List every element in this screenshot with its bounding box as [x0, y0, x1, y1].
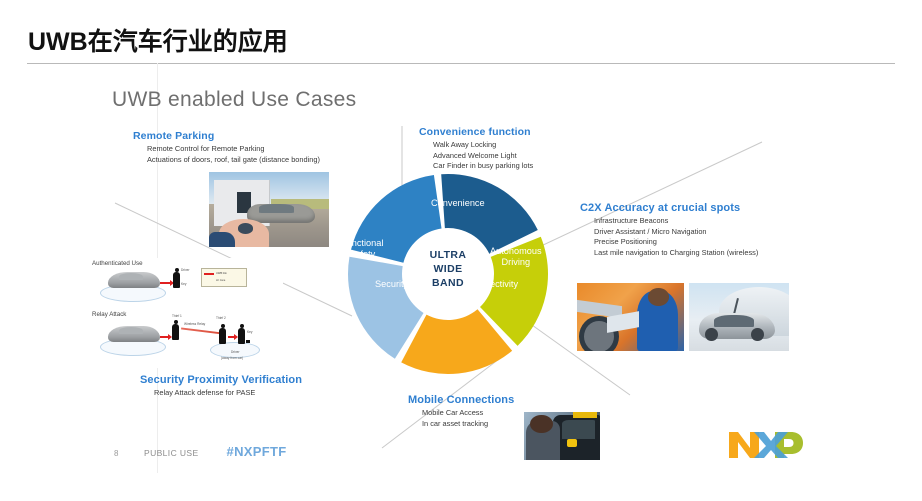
event-hashtag: #NXPFTF: [227, 444, 287, 459]
diagram-car: [108, 326, 160, 342]
callout-title: Convenience function: [419, 126, 533, 138]
classification-label: PUBLIC USE: [144, 448, 199, 458]
photo-car-interior: [577, 283, 684, 351]
callout-title: Remote Parking: [133, 130, 320, 142]
callout-security-proximity: Security Proximity Verification Relay At…: [140, 374, 302, 399]
photo-handheld-device: [567, 439, 578, 447]
diagram-label-key: Key: [181, 282, 187, 286]
diagram-relay-attack: Authenticated Use Driver Key UWB link LF…: [88, 258, 283, 368]
diagram-briefcase: [246, 340, 250, 343]
diagram-label-thief1: Thief 1: [172, 314, 182, 318]
person-body: [173, 272, 180, 288]
logo-letter-n: [729, 432, 759, 458]
person-body: [172, 324, 179, 340]
callout-line: Advanced Welcome Light: [433, 151, 533, 162]
person-body: [238, 328, 245, 344]
callout-lines: Infrastructure Beacons Driver Assistant …: [580, 216, 758, 258]
callout-lines: Relay Attack defense for PASE: [140, 388, 302, 399]
person-body: [219, 328, 226, 344]
photo-person-head: [530, 415, 553, 433]
legend-swatch-uwb: [204, 273, 214, 275]
photo-concept-car: [689, 283, 789, 351]
donut-chart-svg: [333, 172, 563, 377]
callout-line: Car Finder in busy parking lots: [433, 161, 533, 172]
nxp-logo: [727, 428, 807, 462]
donut-slice-autonomous-driving[interactable]: [441, 174, 538, 254]
diagram-label-driver-away: Driver: [231, 350, 240, 354]
diagram-person-driver-away: [238, 324, 245, 344]
photo-remote-parking: [209, 172, 329, 247]
callout-line: Driver Assistant / Micro Navigation: [594, 227, 758, 238]
footer: 8 PUBLIC USE #NXPFTF: [114, 444, 286, 459]
diagram-label-wireless-relay: Wireless Relay: [184, 322, 205, 326]
photo-car-window: [562, 420, 595, 439]
callout-lines: Mobile Car Access In car asset tracking: [408, 408, 514, 429]
diagram-person-thief2: [219, 324, 226, 344]
diagram-label-driver-away-sub: (away from car): [221, 356, 243, 360]
photo-sleeve: [209, 232, 235, 247]
diagram-arrow: [160, 282, 172, 284]
diagram-label-driver: Driver: [181, 268, 190, 272]
diagram-person-driver: [173, 268, 180, 288]
callout-c2x: C2X Accuracy at crucial spots Infrastruc…: [580, 202, 758, 258]
diagram-wireless-relay: [181, 327, 223, 334]
diagram-label-key: Key: [247, 330, 253, 334]
photo-person-head: [648, 288, 669, 306]
donut-slice-convenience[interactable]: [351, 175, 442, 263]
photo-car: [247, 204, 314, 224]
callout-title: Security Proximity Verification: [140, 374, 302, 386]
callout-convenience: Convenience function Walk Away Locking A…: [419, 126, 533, 172]
callout-line: Relay Attack defense for PASE: [154, 388, 302, 399]
diagram-arrow: [228, 336, 236, 338]
legend-label-uwb: UWB link: [216, 272, 227, 275]
callout-line: In car asset tracking: [422, 419, 514, 430]
diagram-label-relay-attack: Relay Attack: [92, 311, 126, 318]
diagram-person-thief1: [172, 320, 179, 340]
callout-line: Remote Control for Remote Parking: [147, 144, 320, 155]
callout-line: Actuations of doors, roof, tail gate (di…: [147, 155, 320, 166]
callout-title: C2X Accuracy at crucial spots: [580, 202, 758, 214]
diagram-car: [108, 272, 160, 288]
callout-line: Precise Positioning: [594, 237, 758, 248]
diagram-label-thief2: Thief 2: [216, 316, 226, 320]
donut-chart: Convenience Autonomous Driving Connectiv…: [333, 172, 563, 377]
diagram-label-authenticated-use: Authenticated Use: [92, 260, 143, 267]
legend-label-lf: LF zone: [216, 279, 225, 282]
page-number: 8: [114, 449, 144, 458]
diagram-arrow: [160, 336, 170, 338]
photo-mobile-car-access: [524, 412, 600, 460]
page-title: UWB在汽车行业的应用: [28, 22, 288, 58]
callout-title: Mobile Connections: [408, 394, 514, 406]
callout-line: Mobile Car Access: [422, 408, 514, 419]
callout-lines: Remote Control for Remote Parking Actuat…: [133, 144, 320, 165]
callout-mobile-connections: Mobile Connections Mobile Car Access In …: [408, 394, 514, 429]
callout-line: Infrastructure Beacons: [594, 216, 758, 227]
photo-roof-light: [573, 412, 597, 418]
logo-letters: [729, 432, 803, 458]
callout-line: Last mile navigation to Charging Station…: [594, 248, 758, 259]
callout-remote-parking: Remote Parking Remote Control for Remote…: [133, 130, 320, 165]
content-heading: UWB enabled Use Cases: [112, 88, 356, 112]
callout-line: Walk Away Locking: [433, 140, 533, 151]
diagram-legend: UWB link LF zone: [201, 268, 247, 287]
photo-key-fob: [238, 223, 254, 234]
callout-lines: Walk Away Locking Advanced Welcome Light…: [419, 140, 533, 172]
